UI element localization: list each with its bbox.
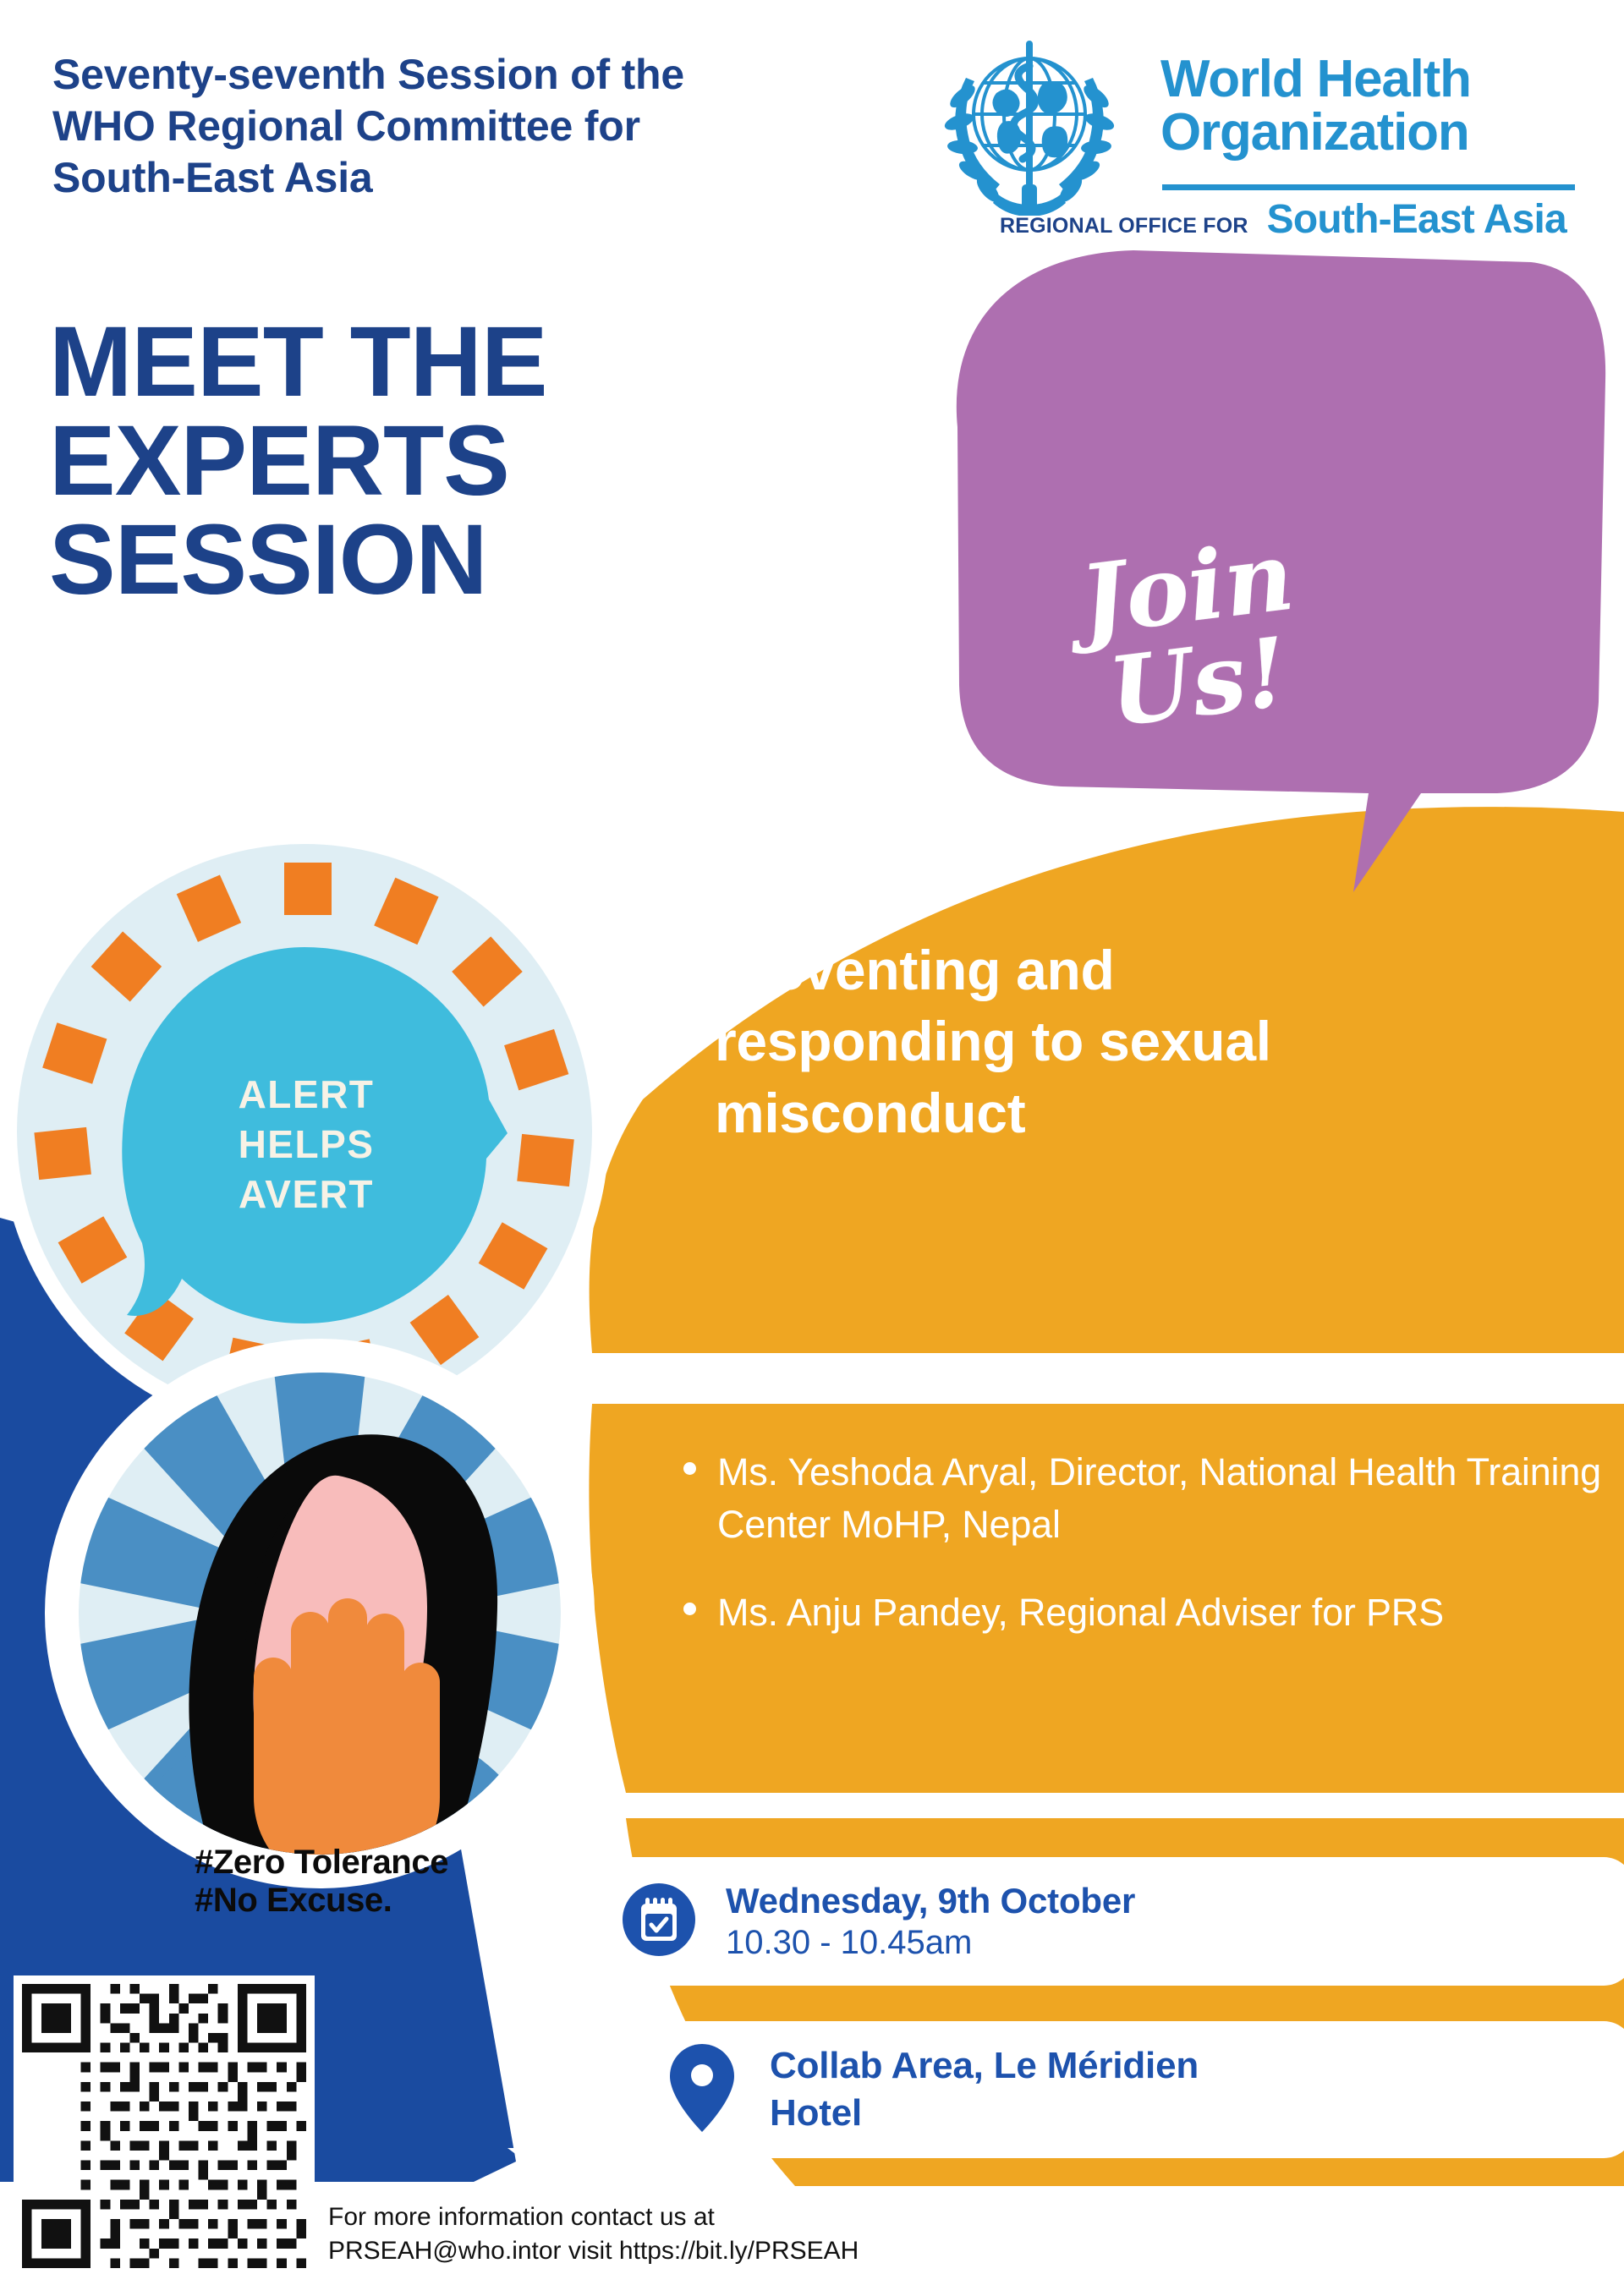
who-emblem-icon [915,34,1144,216]
event-date: Wednesday, 9th October [726,1880,1135,1922]
list-item: Ms. Anju Pandey, Regional Adviser for PR… [677,1586,1607,1639]
white-wedge-bottom [507,2148,592,2186]
who-logo: World Health Organization REGIONAL OFFIC… [915,34,1575,220]
alert-helps-avert-text: ALERT HELPS AVERT [179,1070,433,1219]
who-subrow: REGIONAL OFFICE FOR South-East Asia [1000,196,1583,243]
who-divider [1162,184,1575,190]
list-item: Ms. Yeshoda Aryal, Director, National He… [677,1446,1607,1551]
venue-line-2: Hotel [770,2090,1199,2137]
event-time: 10.30 - 10.45am [726,1922,1135,1963]
date-time-text: Wednesday, 9th October 10.30 - 10.45am [726,1880,1135,1963]
calendar-icon [623,1883,695,1960]
qr-code[interactable] [14,1975,315,2277]
footer-line-2[interactable]: PRSEAH@who.intor visit https://bit.ly/PR… [328,2234,1005,2268]
page-title: MEET THE EXPERTS SESSION [49,313,895,609]
who-wordmark: World Health Organization [1160,52,1575,159]
bullet-icon [683,1462,696,1475]
location-pin-icon [668,2042,736,2138]
speaker-list: Ms. Yeshoda Aryal, Director, National He… [677,1446,1607,1674]
bullet-icon [683,1603,696,1615]
topic-heading: Preventing and responding to sexual misc… [715,934,1569,1148]
who-region-label: South-East Asia [1267,196,1566,243]
poster-root: Seventy-seventh Session of the WHO Regio… [0,0,1624,2296]
who-regional-office-label: REGIONAL OFFICE FOR [1000,214,1248,238]
qr-code-icon [22,1984,306,2268]
hashtag-block: #Zero Tolerance #No Excuse. [195,1844,550,1920]
hashtag-no-excuse: #No Excuse. [195,1882,550,1920]
date-time-pill: Wednesday, 9th October 10.30 - 10.45am [568,1857,1624,1986]
venue-text: Collab Area, Le Méridien Hotel [770,2042,1199,2138]
venue-pill: Collab Area, Le Méridien Hotel [602,2021,1624,2158]
session-title: Seventy-seventh Session of the WHO Regio… [52,49,814,204]
footer-contact: For more information contact us at PRSEA… [328,2200,1005,2268]
venue-line-1: Collab Area, Le Méridien [770,2042,1199,2090]
speaker-name: Ms. Yeshoda Aryal, Director, National He… [717,1450,1601,1546]
speaker-name: Ms. Anju Pandey, Regional Adviser for PR… [717,1591,1444,1634]
footer-line-1: For more information contact us at [328,2200,1005,2234]
hashtag-zero-tolerance: #Zero Tolerance [195,1844,550,1882]
